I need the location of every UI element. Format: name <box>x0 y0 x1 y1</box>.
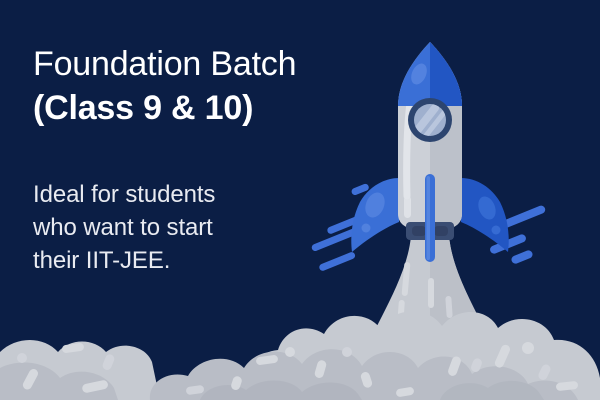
rocket-launch-illustration <box>0 0 600 400</box>
promo-banner: Foundation Batch (Class 9 & 10) Ideal fo… <box>0 0 600 400</box>
vertical-stripe <box>425 174 435 262</box>
